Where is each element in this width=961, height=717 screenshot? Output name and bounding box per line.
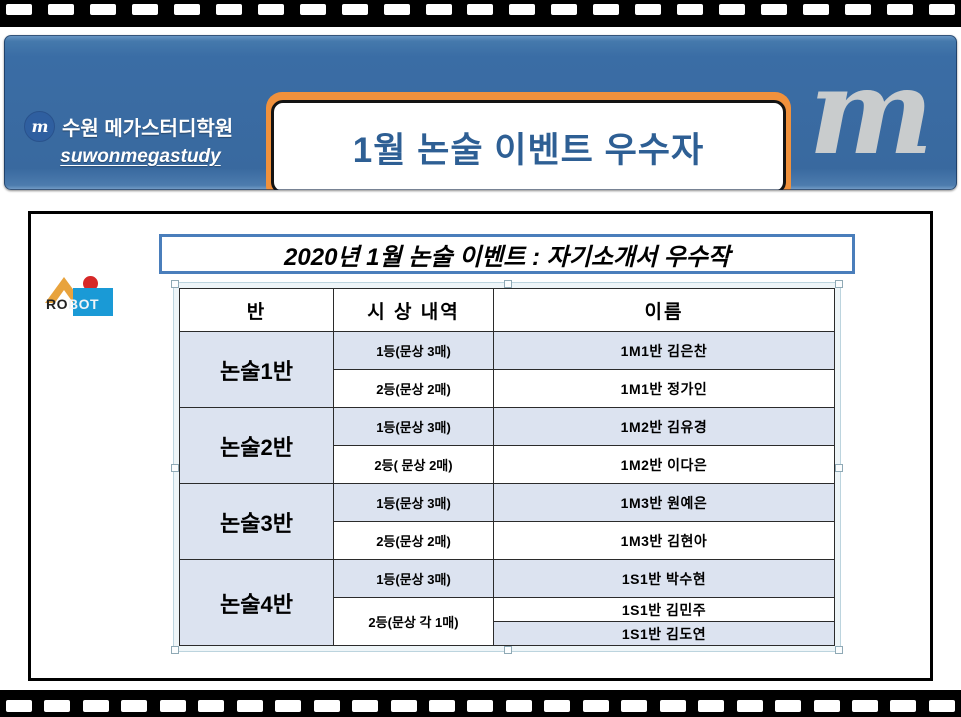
- column-header-name: 이름: [494, 289, 835, 332]
- award-cell: 2등(문상 각 1매): [334, 598, 494, 646]
- page-title: 1월 논술 이벤트 우수자: [353, 122, 704, 173]
- award-cell: 2등(문상 2매): [334, 522, 494, 560]
- film-perforation: [890, 700, 916, 712]
- film-perforation: [384, 4, 410, 15]
- film-perforation: [258, 4, 284, 15]
- film-perforation: [593, 4, 619, 15]
- film-perforations-bottom: [0, 690, 961, 717]
- film-perforation: [90, 4, 116, 15]
- film-perforation: [300, 4, 326, 15]
- film-perforation: [429, 700, 455, 712]
- name-cell: 1M2반 김유경: [494, 408, 835, 446]
- resize-handle-right-middle[interactable]: [835, 464, 843, 472]
- resize-handle-bottom-right[interactable]: [835, 646, 843, 654]
- film-perforation: [544, 700, 570, 712]
- film-perforation: [737, 700, 763, 712]
- film-perforation: [48, 4, 74, 15]
- robot-word-left: RO: [46, 296, 68, 312]
- brand-latin-name: suwonmegastudy: [24, 146, 257, 168]
- film-perforation: [352, 700, 378, 712]
- brand-row: m 수원 메가스터디학원: [24, 111, 264, 142]
- megastudy-watermark-icon: m: [803, 53, 933, 178]
- film-perforation: [814, 700, 840, 712]
- resize-handle-bottom-left[interactable]: [171, 646, 179, 654]
- film-perforation: [467, 700, 493, 712]
- film-perforation: [506, 700, 532, 712]
- film-perforation: [635, 4, 661, 15]
- award-cell: 1등(문상 3매): [334, 332, 494, 370]
- film-perforation: [719, 4, 745, 15]
- header-banner: m 수원 메가스터디학원 suwonmegastudy 1월 논술 이벤트 우수…: [4, 35, 957, 190]
- brand-block: m 수원 메가스터디학원 suwonmegastudy: [24, 111, 264, 168]
- subtitle-text: 2020년 1월 논술 이벤트 : 자기소개서 우수작: [284, 237, 730, 272]
- resize-handle-top-right[interactable]: [835, 280, 843, 288]
- class-cell: 논술4반: [180, 560, 334, 646]
- film-perforation: [314, 700, 340, 712]
- name-cell: 1S1반 박수현: [494, 560, 835, 598]
- film-perforation: [174, 4, 200, 15]
- film-perforation: [83, 700, 109, 712]
- megastudy-logo-icon: m: [24, 111, 55, 142]
- name-cell: 1S1반 김도연: [494, 622, 835, 646]
- film-perforation: [132, 4, 158, 15]
- name-cell: 1M1반 김은찬: [494, 332, 835, 370]
- film-perforation: [426, 4, 452, 15]
- film-perforation: [775, 700, 801, 712]
- brand-name: 수원 메가스터디학원: [62, 112, 233, 141]
- award-cell: 1등(문상 3매): [334, 484, 494, 522]
- name-cell: 1M3반 원예은: [494, 484, 835, 522]
- film-perforation: [216, 4, 242, 15]
- table-selection-frame[interactable]: 반 시 상 내역 이름 논술1반1등(문상 3매)1M1반 김은찬2등(문상 2…: [173, 282, 841, 652]
- award-table-body: 논술1반1등(문상 3매)1M1반 김은찬2등(문상 2매)1M1반 정가인논술…: [180, 332, 835, 646]
- column-header-award: 시 상 내역: [334, 289, 494, 332]
- film-perforations-top: [0, 0, 961, 27]
- resize-handle-top-middle[interactable]: [504, 280, 512, 288]
- resize-handle-bottom-middle[interactable]: [504, 646, 512, 654]
- name-cell: 1S1반 김민주: [494, 598, 835, 622]
- class-cell: 논술1반: [180, 332, 334, 408]
- film-perforation: [6, 700, 32, 712]
- award-cell: 1등(문상 3매): [334, 560, 494, 598]
- table-row: 논술4반1등(문상 3매)1S1반 박수현: [180, 560, 835, 598]
- class-cell: 논술2반: [180, 408, 334, 484]
- column-header-class: 반: [180, 289, 334, 332]
- film-perforation: [121, 700, 147, 712]
- subtitle-bar: 2020년 1월 논술 이벤트 : 자기소개서 우수작: [159, 234, 855, 274]
- content-frame: ROBOT 2020년 1월 논술 이벤트 : 자기소개서 우수작 반 시 상 …: [28, 211, 933, 681]
- award-cell: 2등(문상 2매): [334, 370, 494, 408]
- resize-handle-left-middle[interactable]: [171, 464, 179, 472]
- film-strip-bottom: [0, 690, 961, 717]
- title-plate: 1월 논술 이벤트 우수자: [266, 92, 791, 190]
- film-perforation: [852, 700, 878, 712]
- table-header-row: 반 시 상 내역 이름: [180, 289, 835, 332]
- film-perforation: [803, 4, 829, 15]
- film-perforation: [160, 700, 186, 712]
- class-cell: 논술3반: [180, 484, 334, 560]
- film-perforation: [677, 4, 703, 15]
- brand-mark-glyph: m: [32, 119, 48, 135]
- film-perforation: [660, 700, 686, 712]
- film-perforation: [198, 700, 224, 712]
- film-perforation: [391, 700, 417, 712]
- film-perforation: [275, 700, 301, 712]
- table-row: 논술3반1등(문상 3매)1M3반 원예은: [180, 484, 835, 522]
- film-perforation: [761, 4, 787, 15]
- table-row: 논술1반1등(문상 3매)1M1반 김은찬: [180, 332, 835, 370]
- title-plate-inner: 1월 논술 이벤트 우수자: [271, 100, 786, 190]
- film-perforation: [583, 700, 609, 712]
- robot-word-right: BOT: [68, 296, 99, 312]
- film-perforation: [621, 700, 647, 712]
- film-perforation: [551, 4, 577, 15]
- table-row: 논술2반1등(문상 3매)1M2반 김유경: [180, 408, 835, 446]
- film-perforation: [698, 700, 724, 712]
- film-strip-top: [0, 0, 961, 27]
- robot-logo-icon: ROBOT: [43, 271, 113, 323]
- film-perforation: [467, 4, 493, 15]
- name-cell: 1M2반 이다은: [494, 446, 835, 484]
- film-perforation: [237, 700, 263, 712]
- name-cell: 1M3반 김현아: [494, 522, 835, 560]
- film-perforation: [929, 4, 955, 15]
- name-cell: 1M1반 정가인: [494, 370, 835, 408]
- film-perforation: [509, 4, 535, 15]
- film-perforation: [6, 4, 32, 15]
- resize-handle-top-left[interactable]: [171, 280, 179, 288]
- film-perforation: [887, 4, 913, 15]
- award-cell: 2등( 문상 2매): [334, 446, 494, 484]
- film-perforation: [929, 700, 955, 712]
- film-perforation: [845, 4, 871, 15]
- robot-wordmark: ROBOT: [46, 296, 99, 312]
- award-cell: 1등(문상 3매): [334, 408, 494, 446]
- film-perforation: [342, 4, 368, 15]
- award-table: 반 시 상 내역 이름 논술1반1등(문상 3매)1M1반 김은찬2등(문상 2…: [179, 288, 835, 646]
- film-perforation: [44, 700, 70, 712]
